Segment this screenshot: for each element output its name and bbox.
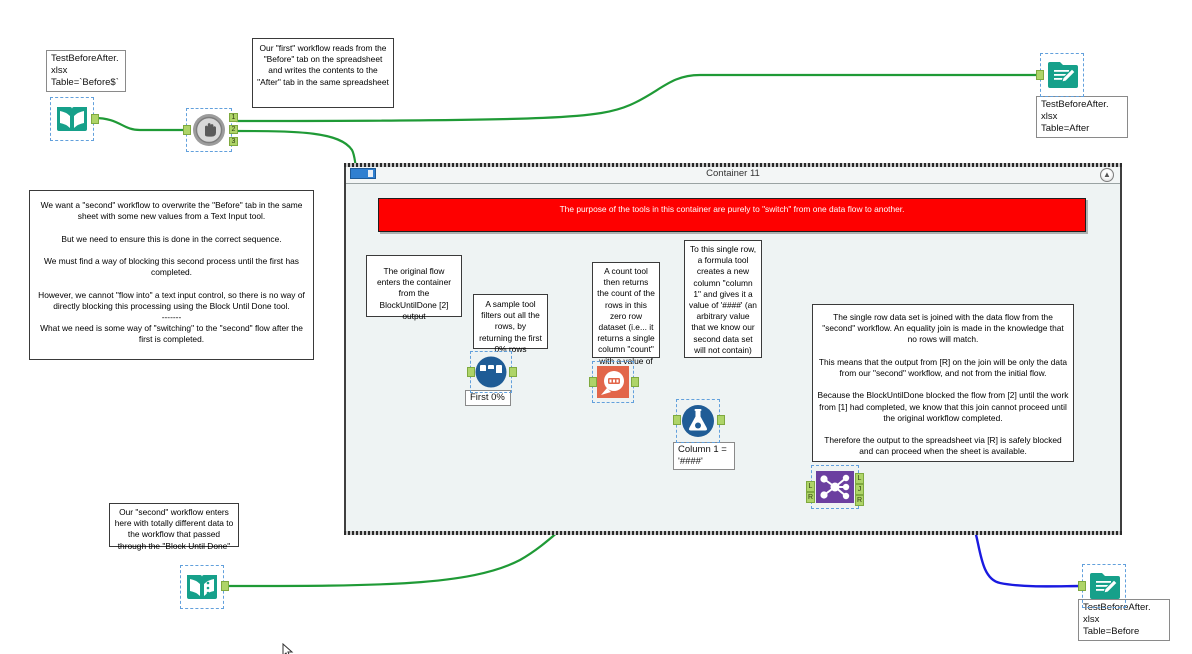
block-output-anchor-1[interactable]: 1 [229,113,238,122]
comment-first-workflow: Our "first" workflow reads from the "Bef… [252,38,394,108]
output-tool-after[interactable] [1040,53,1084,97]
container-banner: The purpose of the tools in this contain… [378,198,1086,232]
join-output-anchor-j[interactable]: J [855,484,864,495]
input-before-output-anchor[interactable] [91,114,99,124]
book-input-icon [55,104,89,134]
container-title: Container 11 [346,167,1120,180]
block-until-done-tool[interactable] [186,108,232,152]
workflow-canvas[interactable]: Container 11 ▲ The purpose of the tools … [0,0,1192,654]
comment-second-workflow-requirements: We want a "second" workflow to overwrite… [29,190,314,360]
comment-sample-tool: A sample tool filters out all the rows, … [473,294,548,349]
output-before-input-anchor[interactable] [1078,581,1086,591]
comment-second-workflow-entry: Our "second" workflow enters here with t… [109,503,239,547]
count-input-anchor[interactable] [589,377,597,387]
join-output-anchor-r[interactable]: R [855,495,864,506]
document-output-icon [1046,60,1078,90]
formula-tool[interactable] [676,399,720,443]
comment-formula-tool: To this single row, a formula tool creat… [684,240,762,358]
comment-count-tool: A count tool then returns the count of t… [592,262,660,358]
join-input-anchor-l[interactable]: L [806,481,815,492]
formula-output-anchor[interactable] [717,415,725,425]
formula-flask-icon [682,405,715,438]
output-after-input-anchor[interactable] [1036,70,1044,80]
document-output-icon [1088,571,1120,601]
formula-tool-label: Column 1 = '####' [673,442,735,470]
book-text-input-icon [185,572,219,602]
input-before-label: TestBeforeAfter. xlsx Table=`Before$` [46,50,126,92]
join-output-anchor-l[interactable]: L [855,473,864,484]
sample-output-anchor[interactable] [509,367,517,377]
input-tool-before[interactable] [50,97,94,141]
block-output-anchor-3[interactable]: 3 [229,137,238,146]
formula-input-anchor[interactable] [673,415,681,425]
output-after-label: TestBeforeAfter. xlsx Table=After [1036,96,1128,138]
sample-input-anchor[interactable] [467,367,475,377]
wire-input-to-block [94,118,185,130]
sample-beakers-icon [475,356,507,388]
join-nodes-icon [816,471,854,503]
count-output-anchor[interactable] [631,377,639,387]
count-records-icon [597,366,629,398]
join-input-anchor-r[interactable]: R [806,492,815,503]
text-input-tool[interactable] [180,565,224,609]
comment-original-flow-entry: The original flow enters the container f… [366,255,462,317]
count-records-tool[interactable] [592,361,634,403]
mouse-cursor-icon [282,643,294,654]
sample-tool[interactable] [470,351,512,393]
output-tool-before[interactable] [1082,564,1126,608]
hand-block-icon [192,113,226,147]
text-input-output-anchor[interactable] [221,581,229,591]
block-output-anchor-2[interactable]: 2 [229,125,238,134]
block-input-anchor[interactable] [183,125,191,135]
join-tool[interactable] [811,465,859,509]
collapse-icon[interactable]: ▲ [1100,168,1114,182]
comment-join-explanation: The single row data set is joined with t… [812,304,1074,462]
